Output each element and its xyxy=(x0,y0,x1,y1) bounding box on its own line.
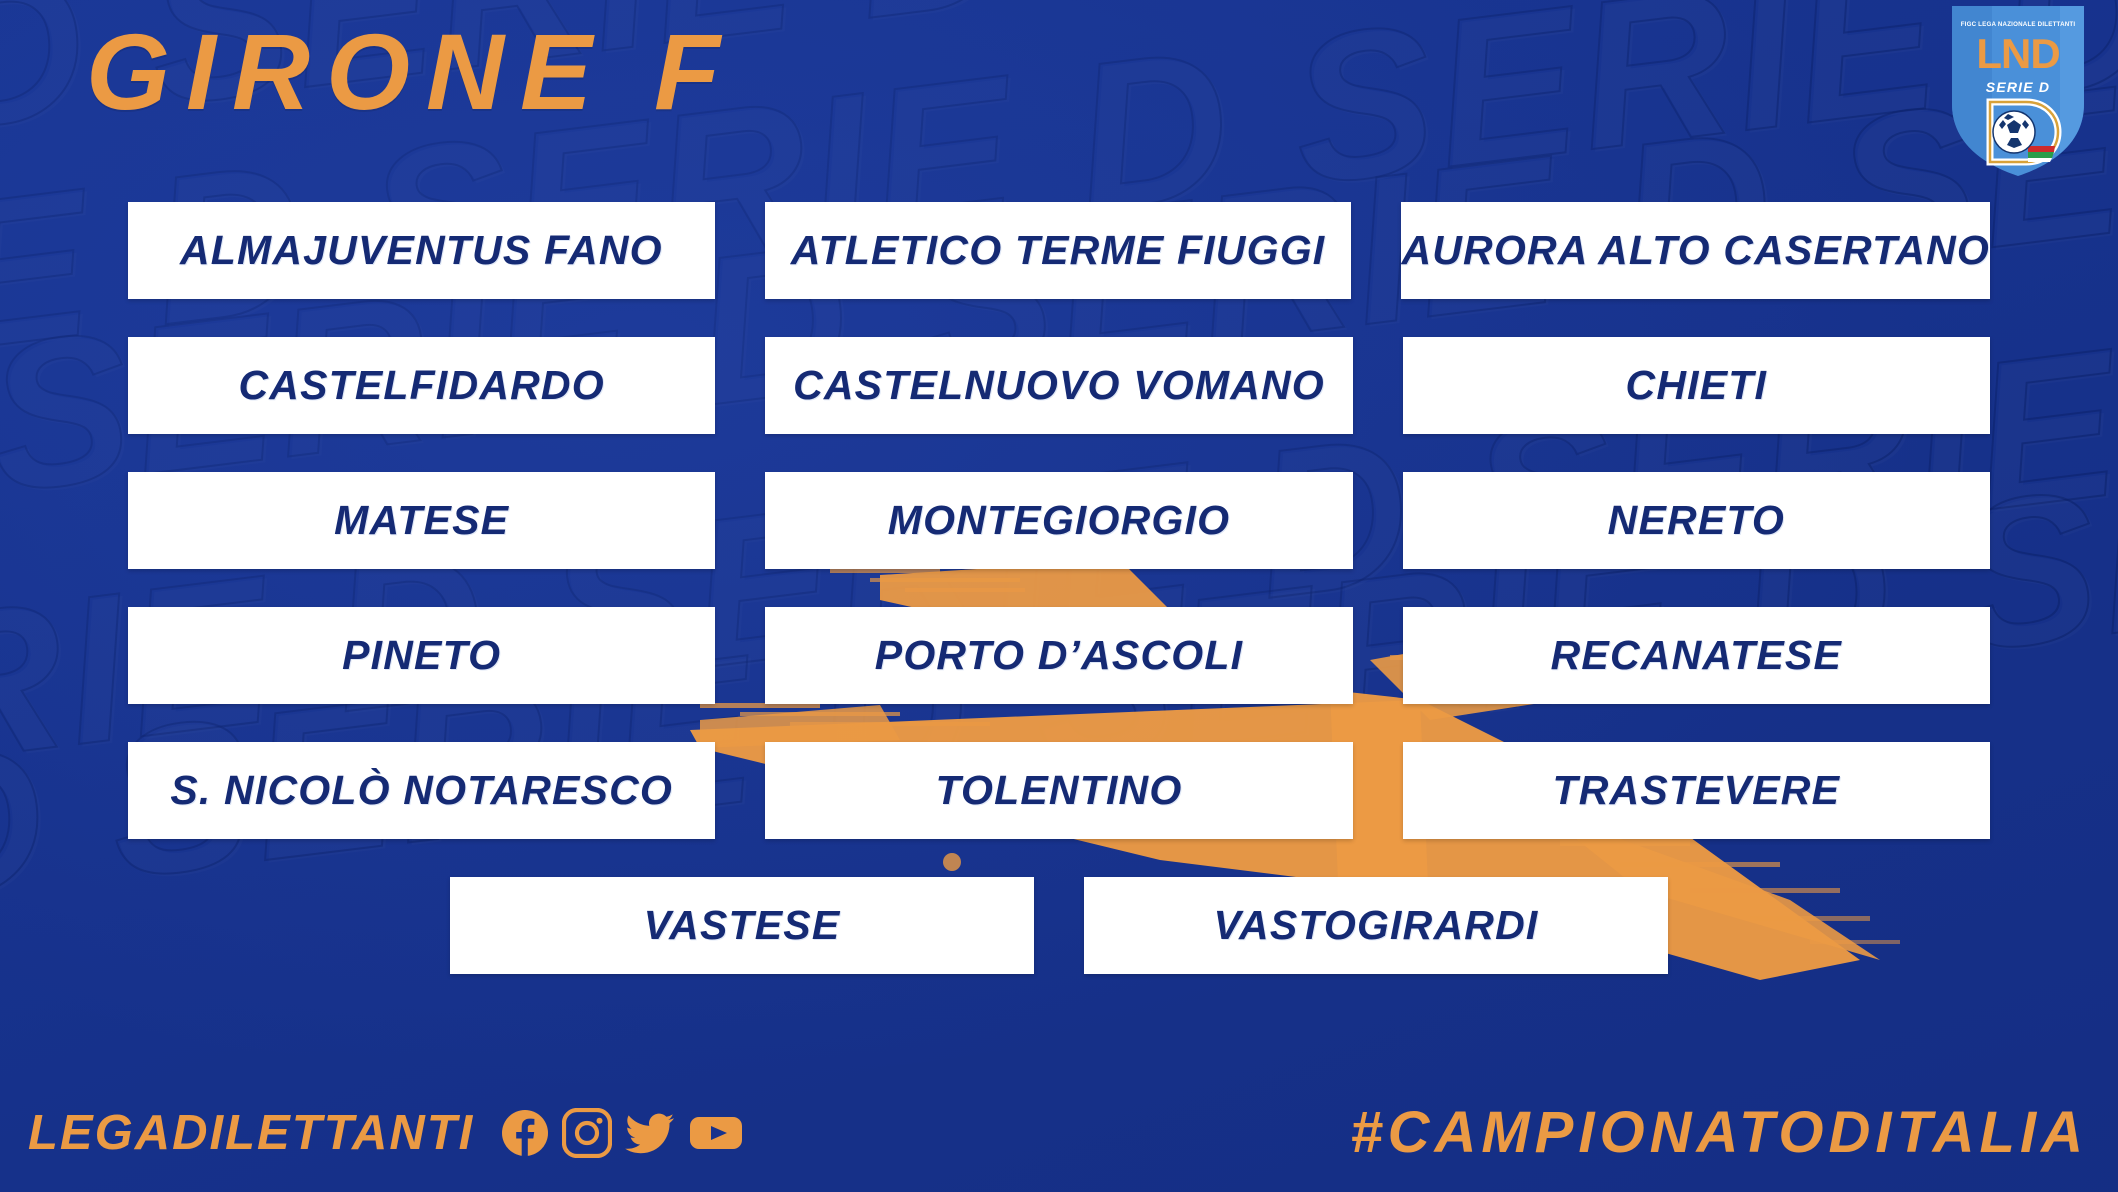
team-name: CASTELNUOVO VOMANO xyxy=(793,365,1325,406)
logo-division: SERIE D xyxy=(1986,79,2050,95)
team-box[interactable]: S. NICOLÒ NOTARESCO xyxy=(128,742,715,839)
team-row: PINETO PORTO D’ASCOLI RECANATESE xyxy=(128,607,1990,704)
facebook-icon[interactable] xyxy=(500,1108,550,1158)
footer-brand: LEGADILETTANTI xyxy=(28,1109,474,1158)
team-box[interactable]: CASTELFIDARDO xyxy=(128,337,715,434)
team-box[interactable]: VASTESE xyxy=(450,877,1034,974)
youtube-icon[interactable] xyxy=(688,1108,744,1158)
team-box[interactable]: PINETO xyxy=(128,607,715,704)
team-name: CASTELFIDARDO xyxy=(238,365,604,406)
team-name: S. NICOLÒ NOTARESCO xyxy=(170,770,673,811)
team-name: VASTESE xyxy=(644,905,841,946)
team-name: TRASTEVERE xyxy=(1552,770,1840,811)
footer-hashtag: #CAMPIONATODITALIA xyxy=(1350,1104,2088,1162)
footer: LEGADILETTANTI xyxy=(0,1074,2118,1192)
team-box[interactable]: ATLETICO TERME FIUGGI xyxy=(765,202,1352,299)
team-name: ATLETICO TERME FIUGGI xyxy=(791,230,1326,271)
team-name: RECANATESE xyxy=(1551,635,1842,676)
team-name: MONTEGIORGIO xyxy=(888,500,1230,541)
team-box[interactable]: MONTEGIORGIO xyxy=(765,472,1352,569)
team-box[interactable]: VASTOGIRARDI xyxy=(1084,877,1668,974)
team-name: NERETO xyxy=(1608,500,1785,541)
team-name: PINETO xyxy=(342,635,501,676)
logo-acronym: LND xyxy=(1976,30,2059,77)
team-name: CHIETI xyxy=(1626,365,1768,406)
team-box[interactable]: CASTELNUOVO VOMANO xyxy=(765,337,1352,434)
team-row: CASTELFIDARDO CASTELNUOVO VOMANO CHIETI xyxy=(128,337,1990,434)
social-icons xyxy=(500,1108,744,1158)
team-box[interactable]: NERETO xyxy=(1403,472,1990,569)
twitter-icon[interactable] xyxy=(624,1108,676,1158)
team-box[interactable]: AURORA ALTO CASERTANO xyxy=(1401,202,1990,299)
team-row: VASTESE VASTOGIRARDI xyxy=(128,877,1990,974)
team-grid: ALMAJUVENTUS FANO ATLETICO TERME FIUGGI … xyxy=(128,202,1990,974)
team-name: TOLENTINO xyxy=(936,770,1183,811)
team-box[interactable]: RECANATESE xyxy=(1403,607,1990,704)
footer-left-group: LEGADILETTANTI xyxy=(28,1108,744,1158)
team-row: MATESE MONTEGIORGIO NERETO xyxy=(128,472,1990,569)
team-name: MATESE xyxy=(334,500,509,541)
girone-f-graphic: SERIE D SERIE D SERIE D SERIE D SERIE D … xyxy=(0,0,2118,1192)
instagram-icon[interactable] xyxy=(562,1108,612,1158)
team-name: VASTOGIRARDI xyxy=(1214,905,1539,946)
team-name: PORTO D’ASCOLI xyxy=(875,635,1243,676)
team-row: S. NICOLÒ NOTARESCO TOLENTINO TRASTEVERE xyxy=(128,742,1990,839)
team-box[interactable]: PORTO D’ASCOLI xyxy=(765,607,1352,704)
team-box[interactable]: MATESE xyxy=(128,472,715,569)
team-name: AURORA ALTO CASERTANO xyxy=(1401,230,1990,271)
team-name: ALMAJUVENTUS FANO xyxy=(180,230,663,271)
lnd-serie-d-logo: FIGC LEGA NAZIONALE DILETTANTI LND SERIE… xyxy=(1942,0,2094,182)
logo-micro-text: FIGC LEGA NAZIONALE DILETTANTI xyxy=(1961,21,2076,28)
team-row: ALMAJUVENTUS FANO ATLETICO TERME FIUGGI … xyxy=(128,202,1990,299)
team-box[interactable]: CHIETI xyxy=(1403,337,1990,434)
team-box[interactable]: ALMAJUVENTUS FANO xyxy=(128,202,715,299)
page-title: GIRONE F xyxy=(86,18,736,126)
team-box[interactable]: TRASTEVERE xyxy=(1403,742,1990,839)
team-box[interactable]: TOLENTINO xyxy=(765,742,1352,839)
